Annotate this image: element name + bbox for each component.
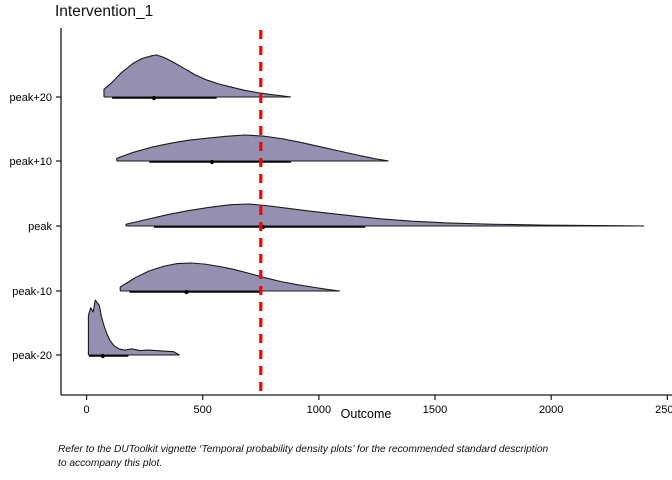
ridge-fill <box>117 135 389 161</box>
ridge-fill <box>120 263 340 291</box>
chart-canvas: 05001000150020002500 peak+20peak+10peakp… <box>0 0 672 480</box>
y-tick-label-peak+10: peak+10 <box>9 156 52 168</box>
y-tick-label-peak-10: peak-10 <box>12 286 52 298</box>
ridge-fill <box>88 300 179 355</box>
y-ticks-group: peak+20peak+10peakpeak-10peak-20 <box>9 92 61 362</box>
ridgeline-plot-figure: Intervention_1 05001000150020002500 peak… <box>0 0 672 480</box>
x-axis-title: Outcome <box>341 407 392 421</box>
median-point <box>101 354 105 358</box>
y-tick-label-peak+20: peak+20 <box>9 92 52 104</box>
x-tick-label: 2500 <box>655 404 672 416</box>
ridge-peak+10 <box>117 135 389 164</box>
ridges-group <box>88 55 644 358</box>
ridge-peak+20 <box>104 55 291 100</box>
x-tick-label: 0 <box>83 404 89 416</box>
ridge-peak <box>126 204 644 229</box>
caption-line-2: to accompany this plot. <box>58 457 658 471</box>
caption-line-1: Refer to the DUToolkit vignette ‘Tempora… <box>58 443 658 457</box>
x-tick-label: 1500 <box>423 404 447 416</box>
x-tick-label: 1000 <box>307 404 331 416</box>
ridge-peak-20 <box>88 300 179 358</box>
median-point <box>152 96 156 100</box>
x-tick-label: 500 <box>194 404 212 416</box>
x-tick-label: 2000 <box>539 404 563 416</box>
figure-caption: Refer to the DUToolkit vignette ‘Tempora… <box>58 443 658 471</box>
ridge-fill <box>126 204 644 226</box>
median-point <box>184 290 188 294</box>
ridge-peak-10 <box>120 263 340 294</box>
median-point <box>210 160 214 164</box>
y-tick-label-peak: peak <box>28 221 52 233</box>
y-tick-label-peak-20: peak-20 <box>12 350 52 362</box>
